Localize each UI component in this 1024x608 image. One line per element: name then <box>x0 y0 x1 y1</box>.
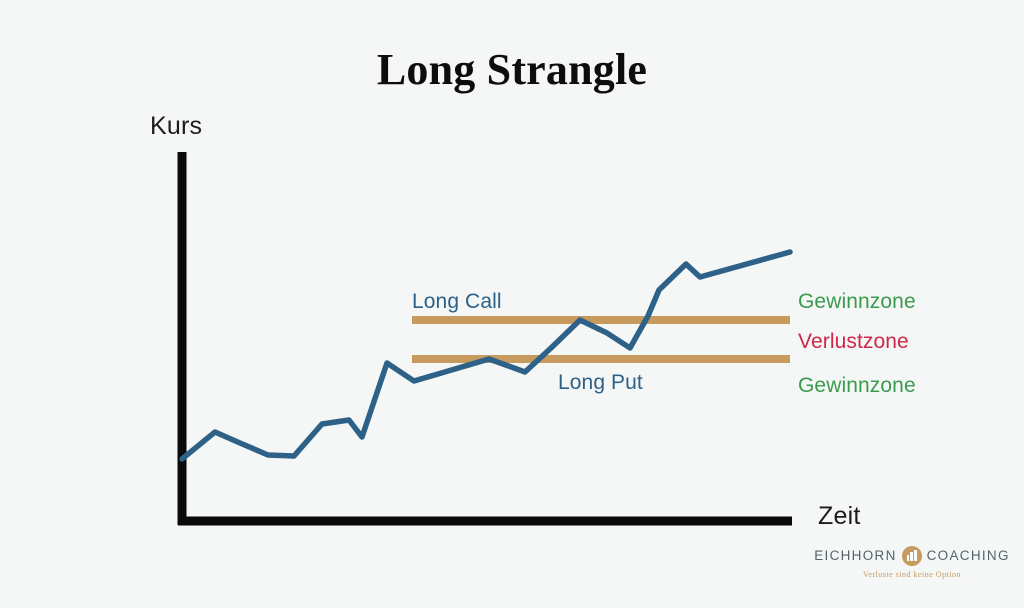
zone-label-gewinnzone-bottom: Gewinnzone <box>798 374 916 398</box>
zone-label-gewinnzone-top: Gewinnzone <box>798 290 916 314</box>
long-put-label: Long Put <box>558 371 643 395</box>
logo-word-left: EICHHORN <box>814 549 896 563</box>
logo-wordmark: EICHHORN COACHING <box>822 545 1002 567</box>
zone-label-verlustzone: Verlustzone <box>798 330 909 354</box>
chart-canvas: Long Strangle Kurs Zeit Long Call Long P… <box>0 0 1024 608</box>
logo-word-right: COACHING <box>927 549 1010 563</box>
brand-logo: EICHHORN COACHING Verluste sind keine Op… <box>822 545 1002 587</box>
logo-tagline: Verluste sind keine Option <box>822 571 1002 579</box>
long-call-label: Long Call <box>412 290 502 314</box>
bar-chart-circle-icon <box>902 546 922 566</box>
